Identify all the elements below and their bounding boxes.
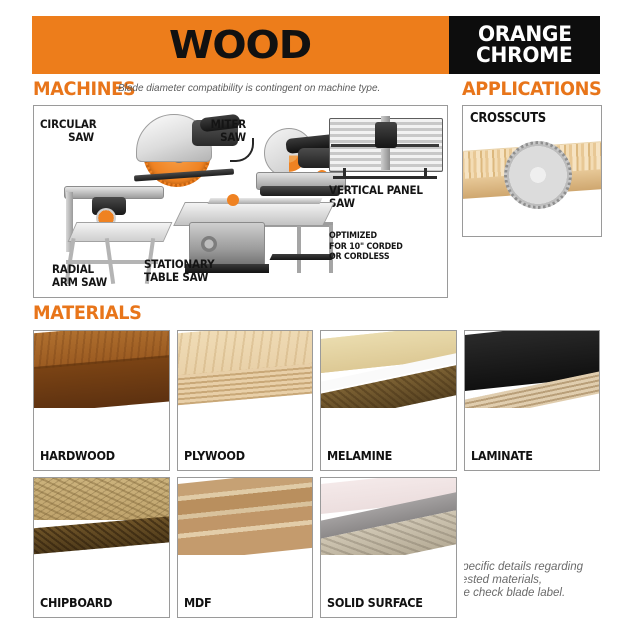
machines-panel: CIRCULAR SAW MITER SAW bbox=[33, 105, 448, 298]
materials-grid: HARDWOOD PLYWOOD MELAMINE LAMINATE bbox=[33, 330, 600, 618]
plywood-swatch bbox=[178, 331, 313, 408]
machine-label-circular-saw: CIRCULAR SAW bbox=[40, 118, 94, 143]
brand-line-2: CHROME bbox=[476, 45, 572, 66]
material-label-hardwood: HARDWOOD bbox=[40, 448, 115, 463]
machine-label-vertical-panel-saw: VERTICAL PANEL SAW bbox=[329, 184, 437, 209]
hardwood-swatch bbox=[34, 331, 169, 408]
applications-heading: APPLICATIONS bbox=[462, 78, 601, 100]
header: WOOD ORANGE CHROME bbox=[32, 16, 600, 74]
machines-subtitle: Blade diameter compatibility is continge… bbox=[118, 82, 380, 94]
product-info-sheet: WOOD ORANGE CHROME MACHINES Blade diamet… bbox=[0, 0, 630, 630]
material-cell-plywood: PLYWOOD bbox=[177, 330, 314, 471]
materials-note: For specific details regarding suggested… bbox=[464, 561, 587, 600]
materials-heading: MATERIALS bbox=[33, 302, 142, 324]
material-cell-mdf: MDF bbox=[177, 477, 314, 618]
material-label-solid-surface: SOLID SURFACE bbox=[327, 595, 423, 610]
title-bar: WOOD bbox=[32, 16, 449, 74]
material-cell-melamine: MELAMINE bbox=[320, 330, 457, 471]
mdf-swatch bbox=[178, 478, 313, 555]
machines-note: OPTIMIZED FOR 10" CORDED OR CORDLESS bbox=[329, 231, 426, 263]
material-label-laminate: LAMINATE bbox=[471, 448, 533, 463]
solid-surface-swatch bbox=[321, 478, 456, 555]
chipboard-swatch bbox=[34, 478, 169, 555]
material-cell-chipboard: CHIPBOARD bbox=[33, 477, 170, 618]
brand-line-1: ORANGE bbox=[478, 24, 572, 45]
material-cell-hardwood: HARDWOOD bbox=[33, 330, 170, 471]
material-label-plywood: PLYWOOD bbox=[184, 448, 245, 463]
material-label-chipboard: CHIPBOARD bbox=[40, 595, 112, 610]
machine-label-radial-arm-saw: RADIAL ARM SAW bbox=[52, 263, 133, 288]
melamine-swatch bbox=[321, 331, 456, 408]
machine-label-stationary-table-saw: STATIONARY TABLE SAW bbox=[144, 258, 243, 283]
page-title: WOOD bbox=[169, 23, 311, 67]
material-label-melamine: MELAMINE bbox=[327, 448, 392, 463]
vertical-panel-saw-icon bbox=[329, 114, 441, 180]
brand-badge: ORANGE CHROME bbox=[449, 16, 600, 74]
application-label-crosscuts: CROSSCUTS bbox=[470, 111, 546, 126]
materials-note-cell: For specific details regarding suggested… bbox=[464, 477, 601, 618]
material-cell-solid-surface: SOLID SURFACE bbox=[320, 477, 457, 618]
material-cell-laminate: LAMINATE bbox=[464, 330, 601, 471]
machine-label-miter-saw: MITER SAW bbox=[188, 118, 246, 143]
applications-panel: CROSSCUTS bbox=[462, 105, 602, 237]
material-label-mdf: MDF bbox=[184, 595, 211, 610]
laminate-swatch bbox=[465, 331, 600, 408]
